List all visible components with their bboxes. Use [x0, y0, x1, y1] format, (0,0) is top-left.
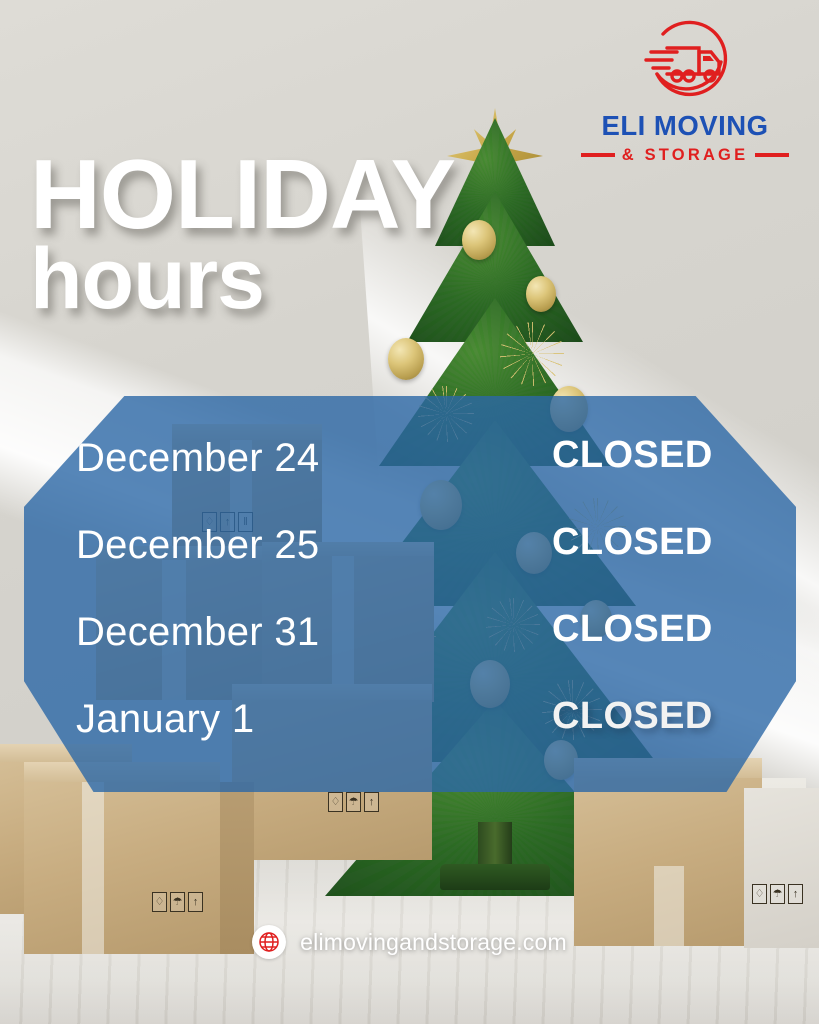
- holiday-hours-poster: ♢ ↑ ‖ ♢ ☂ ↑: [0, 0, 819, 1024]
- tagline-rule-left: [581, 153, 615, 157]
- umbrella-icon: ☂: [170, 892, 185, 912]
- schedule-date: December 31: [76, 612, 319, 652]
- this-side-up-icon: ↑: [364, 792, 379, 812]
- title-line-1: HOLIDAY: [30, 152, 455, 236]
- brand-logo: ELI MOVING & STORAGE: [569, 14, 801, 163]
- moving-truck-icon: [637, 14, 733, 110]
- tagline-rule-right: [755, 153, 789, 157]
- brand-tagline-row: & STORAGE: [569, 147, 801, 164]
- ornament-bauble: [462, 220, 496, 260]
- this-side-up-icon: ↑: [188, 892, 203, 912]
- fragile-icon: ♢: [152, 892, 167, 912]
- schedule-panel: December 24 CLOSED December 25 CLOSED De…: [24, 396, 796, 792]
- schedule-date: January 1: [76, 699, 254, 739]
- ornament-bauble: [526, 276, 556, 312]
- schedule-status: CLOSED: [552, 697, 713, 735]
- schedule-date: December 24: [76, 438, 319, 478]
- tree-stand: [440, 864, 550, 890]
- schedule-row: December 25 CLOSED: [24, 525, 796, 612]
- schedule-row: December 31 CLOSED: [24, 612, 796, 699]
- schedule-status: CLOSED: [552, 523, 713, 561]
- schedule-status: CLOSED: [552, 610, 713, 648]
- fragile-icon: ♢: [328, 792, 343, 812]
- title-line-2: hours: [30, 240, 455, 319]
- page-title: HOLIDAY hours: [30, 152, 455, 319]
- ornament-bauble: [388, 338, 424, 380]
- cardboard-box: ♢ ☂ ↑: [744, 788, 819, 948]
- ornament-sparkle: [500, 322, 564, 386]
- schedule-list: December 24 CLOSED December 25 CLOSED De…: [24, 396, 796, 792]
- website-url[interactable]: elimovingandstorage.com: [300, 929, 567, 956]
- schedule-row: December 24 CLOSED: [24, 438, 796, 525]
- schedule-date: December 25: [76, 525, 319, 565]
- brand-name: ELI MOVING: [569, 112, 801, 140]
- cardboard-box: [574, 778, 762, 946]
- footer: elimovingandstorage.com: [0, 925, 819, 959]
- umbrella-icon: ☂: [346, 792, 361, 812]
- fragile-icon: ♢: [752, 884, 767, 904]
- brand-tagline: & STORAGE: [622, 147, 749, 164]
- globe-icon: [252, 925, 286, 959]
- schedule-status: CLOSED: [552, 436, 713, 474]
- umbrella-icon: ☂: [770, 884, 785, 904]
- this-side-up-icon: ↑: [788, 884, 803, 904]
- schedule-row: January 1 CLOSED: [24, 699, 796, 786]
